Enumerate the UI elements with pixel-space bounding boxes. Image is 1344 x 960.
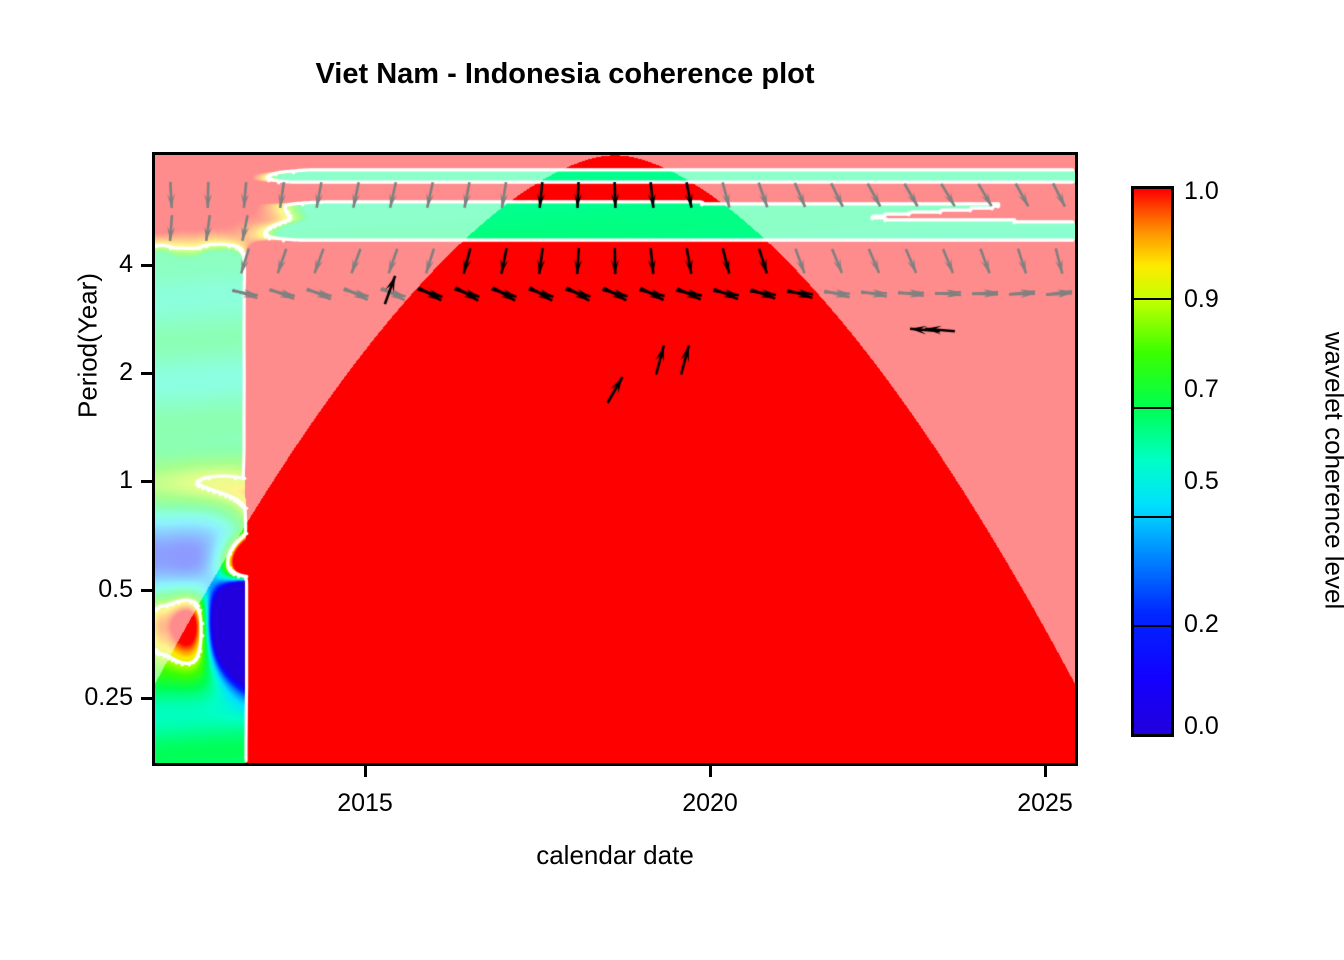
- y-tick-label: 2: [119, 360, 133, 385]
- y-tick-mark: [141, 697, 155, 700]
- colorbar-tick-label: 0.0: [1184, 714, 1219, 739]
- y-tick-label: 0.5: [98, 577, 133, 602]
- x-tick-label: 2025: [985, 791, 1105, 816]
- y-axis-title: Period(Year): [73, 196, 104, 496]
- colorbar-tick-label: 0.7: [1184, 377, 1219, 402]
- y-tick-mark: [141, 372, 155, 375]
- chart-root: Viet Nam - Indonesia coherence plot 4210…: [0, 0, 1344, 960]
- page-title: Viet Nam - Indonesia coherence plot: [0, 58, 1130, 91]
- x-tick-label: 2015: [305, 791, 425, 816]
- y-tick-mark: [141, 480, 155, 483]
- x-tick-mark: [709, 763, 712, 777]
- x-tick-label: 2020: [650, 791, 770, 816]
- y-tick-label: 0.25: [84, 685, 133, 710]
- wavelet-coherence-heatmap: [155, 155, 1075, 763]
- colorbar-gradient: [1134, 189, 1171, 734]
- y-tick-label: 4: [119, 252, 133, 277]
- x-tick-mark: [364, 763, 367, 777]
- colorbar-tick-label: 0.9: [1184, 287, 1219, 312]
- colorbar-tick-label: 1.0: [1184, 179, 1219, 204]
- y-tick-label: 1: [119, 468, 133, 493]
- colorbar-segment-divider: [1134, 298, 1171, 300]
- colorbar-segment-divider: [1134, 407, 1171, 409]
- colorbar-segment-divider: [1134, 516, 1171, 518]
- colorbar-tick-label: 0.5: [1184, 469, 1219, 494]
- x-axis-title: calendar date: [155, 840, 1075, 871]
- colorbar-tick-label: 0.2: [1184, 612, 1219, 637]
- colorbar-segment-divider: [1134, 625, 1171, 627]
- y-tick-mark: [141, 264, 155, 267]
- colorbar-title: wavelet coherence level: [1319, 261, 1344, 681]
- y-tick-mark: [141, 589, 155, 592]
- x-tick-mark: [1044, 763, 1047, 777]
